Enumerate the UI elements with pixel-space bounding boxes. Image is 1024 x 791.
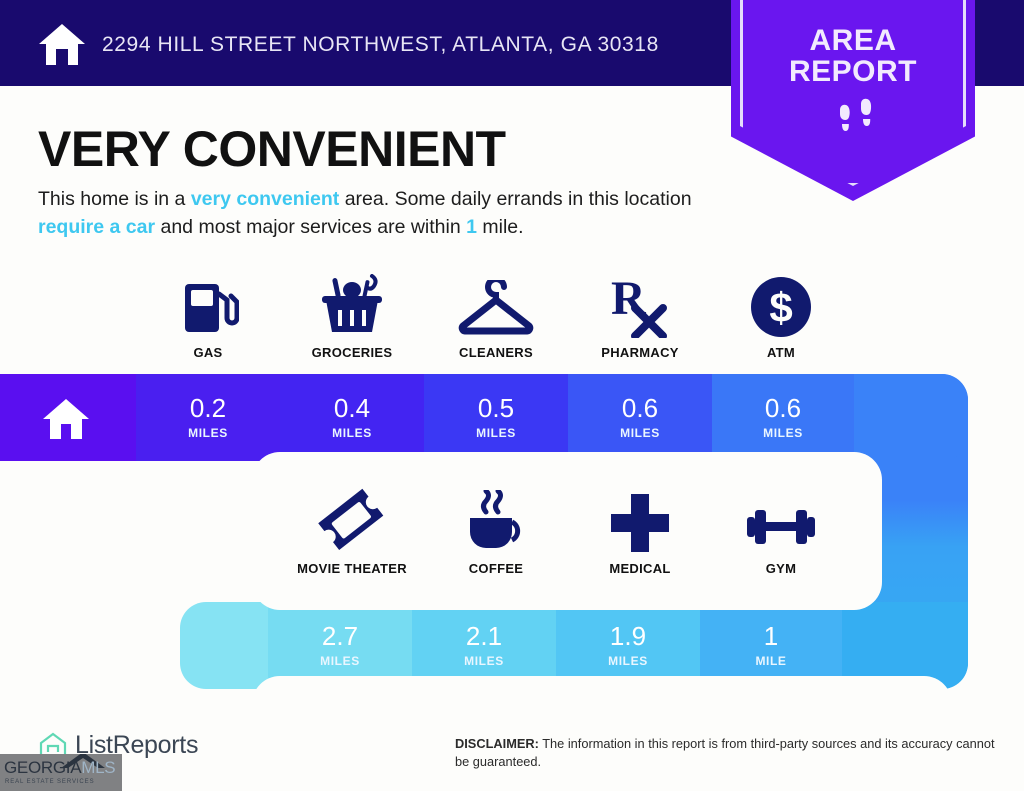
category-groceries: GROCERIES [272, 272, 432, 360]
category-label: PHARMACY [560, 345, 720, 360]
mls-suffix: MLS [81, 758, 115, 777]
summary-part-1: This home is in a [38, 188, 191, 210]
summary-part-3: and most major services are within [155, 216, 466, 238]
prescription-rx-icon: R [560, 272, 720, 338]
distance-unit: MILES [620, 426, 660, 440]
distance-unit: MILES [188, 426, 228, 440]
distance-segment-atm: 0.6MILES [712, 374, 854, 461]
category-row-secondary: MOVIE THEATERCOFFEEMEDICALGYM [0, 488, 1024, 588]
category-label: CLEANERS [416, 345, 576, 360]
summary-highlight-2: require a car [38, 216, 155, 238]
distance-segment-cleaners: 0.5MILES [424, 374, 568, 461]
category-label: GROCERIES [272, 345, 432, 360]
distance-value: 1 [764, 623, 778, 649]
badge-line-2: REPORT [731, 57, 975, 88]
distance-value: 0.6 [765, 395, 801, 421]
clothes-hanger-icon [416, 272, 576, 338]
distance-value: 0.2 [190, 395, 226, 421]
category-atm: $ATM [701, 272, 861, 360]
badge-line-1: AREA [731, 26, 975, 57]
disclaimer-label: DISCLAIMER: [455, 736, 539, 751]
category-row-primary: GASGROCERIESCLEANERSRPHARMACY$ATM [0, 272, 1024, 372]
distance-segment-pharmacy: 0.6MILES [568, 374, 712, 461]
grocery-basket-icon [272, 272, 432, 338]
area-report-page: 2294 HILL STREET NORTHWEST, ATLANTA, GA … [0, 0, 1024, 791]
disclaimer: DISCLAIMER: The information in this repo… [455, 735, 995, 771]
distance-unit: MILES [763, 426, 803, 440]
bar-tail-segment [854, 374, 968, 461]
category-label: ATM [701, 345, 861, 360]
distance-unit: MILES [608, 654, 648, 668]
category-label: GAS [128, 345, 288, 360]
distance-value: 1.9 [610, 623, 646, 649]
footprints-icon [834, 98, 880, 144]
mls-title: GEORGIAMLS [4, 758, 115, 778]
area-report-badge: AREA REPORT [731, 0, 975, 201]
distance-unit: MILE [755, 654, 786, 668]
summary-part-4: mile. [477, 216, 524, 238]
category-label: GYM [696, 561, 866, 576]
distance-unit: MILES [464, 654, 504, 668]
mls-name: GEORGIA [4, 758, 81, 777]
summary-highlight-1: very convenient [191, 188, 339, 210]
distance-segment-groceries: 0.4MILES [280, 374, 424, 461]
mls-tagline: REAL ESTATE SERVICES [5, 779, 94, 785]
category-gas: GAS [128, 272, 288, 360]
distance-value: 2.1 [466, 623, 502, 649]
distance-value: 0.6 [622, 395, 658, 421]
home-icon [42, 398, 90, 440]
dollar-sign-icon: $ [701, 272, 861, 338]
georgia-mls-watermark: GEORGIAMLS REAL ESTATE SERVICES [0, 754, 122, 791]
distance-value: 0.4 [334, 395, 370, 421]
property-address: 2294 HILL STREET NORTHWEST, ATLANTA, GA … [102, 33, 659, 57]
distance-bar-primary: 0.2MILES0.4MILES0.5MILES0.6MILES0.6MILES [0, 374, 968, 461]
badge-title: AREA REPORT [731, 26, 975, 88]
category-cleaners: CLEANERS [416, 272, 576, 360]
summary-highlight-3: 1 [466, 216, 477, 238]
distance-unit: MILES [332, 426, 372, 440]
home-icon [38, 22, 86, 66]
distance-unit: MILES [320, 654, 360, 668]
bar-lead-segment [180, 602, 268, 689]
distance-value: 2.7 [322, 623, 358, 649]
category-gym: GYM [696, 488, 866, 576]
svg-text:$: $ [769, 284, 792, 331]
summary-text: This home is in a very convenient area. … [38, 186, 748, 241]
bottom-white-panel [252, 676, 952, 791]
page-title: VERY CONVENIENT [38, 120, 506, 178]
gas-pump-icon [128, 272, 288, 338]
distance-segment-gas: 0.2MILES [136, 374, 280, 461]
distance-value: 0.5 [478, 395, 514, 421]
dumbbell-icon [696, 488, 866, 554]
distance-unit: MILES [476, 426, 516, 440]
category-pharmacy: RPHARMACY [560, 272, 720, 360]
summary-part-2: area. Some daily errands in this locatio… [339, 188, 691, 210]
